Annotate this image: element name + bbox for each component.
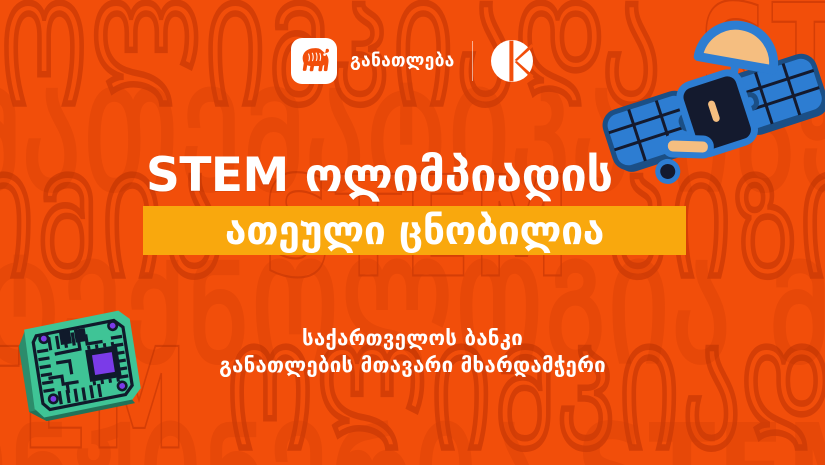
georgia-emblem-lion-icon bbox=[291, 38, 337, 84]
supporter-line-1: საქართველოს ბანკი bbox=[0, 325, 825, 352]
title-block: STEM ოლიმპიადის ათეული ცნობილია bbox=[0, 152, 825, 255]
title-line-1: STEM ოლიმპიადის bbox=[0, 152, 825, 199]
bank-of-georgia-k-icon bbox=[490, 39, 534, 83]
supporter-line-2: განათლების მთავარი მხარდამჭერი bbox=[0, 352, 825, 379]
title-line-2: ათეული ცნობილია bbox=[225, 212, 604, 251]
logo-bar: განათლება bbox=[0, 38, 825, 84]
header-divider bbox=[472, 41, 474, 81]
stem-olympiad-announcement-banner: ᲝᲚᲘᲛᲞᲘᲐᲓᲐ STEM ᲝᲚᲘᲛ ᲛᲐᲗᲔᲛᲐᲢᲘᲙᲐ ᲘᲜᲟᲘᲜᲔᲠᲘᲐ… bbox=[0, 0, 825, 465]
supporter-block: საქართველოს ბანკი განათლების მთავარი მხა… bbox=[0, 325, 825, 378]
education-label: განათლება bbox=[350, 51, 455, 71]
title-highlight-bar: ათეული ცნობილია bbox=[143, 206, 686, 255]
